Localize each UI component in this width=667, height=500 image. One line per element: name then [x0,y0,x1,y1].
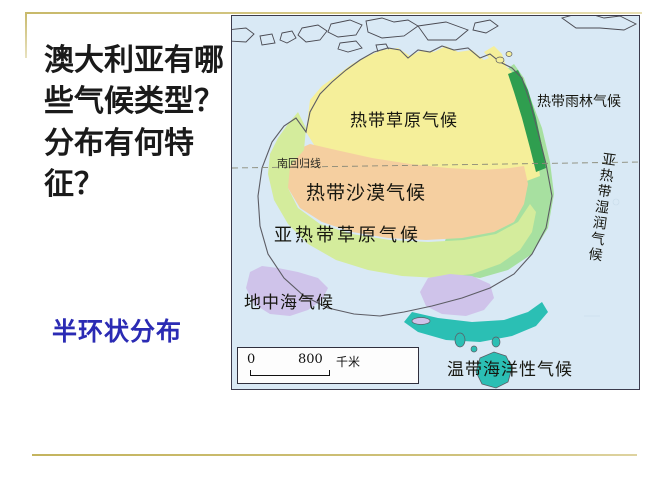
australia-climate-map: 热带草原气候 热带沙漠气候 亚热带草原气候 热带雨林气候 地中海气候 温带海洋性… [231,15,640,390]
map-scale-bar: 0 800 千米 [237,347,419,384]
left-gold-rule [25,12,27,58]
top-gold-rule [25,12,642,14]
scale-start-value: 0 [247,352,255,367]
map-graphic [232,16,640,390]
slide-question-text: 澳大利亚有哪些气候类型？分布有何特征？ [44,40,226,206]
scale-end-value: 800 [298,352,323,367]
tasmania [476,352,512,388]
kangaroo-island [412,318,430,325]
slide-answer-text: 半环状分布 [52,312,182,348]
scale-unit-label: 千米 [336,353,360,370]
bottom-gold-rule [32,454,637,456]
slide-canvas: 澳大利亚有哪些气候类型？分布有何特征？ 半环状分布 [0,0,667,500]
scale-tick-marks [250,370,330,376]
